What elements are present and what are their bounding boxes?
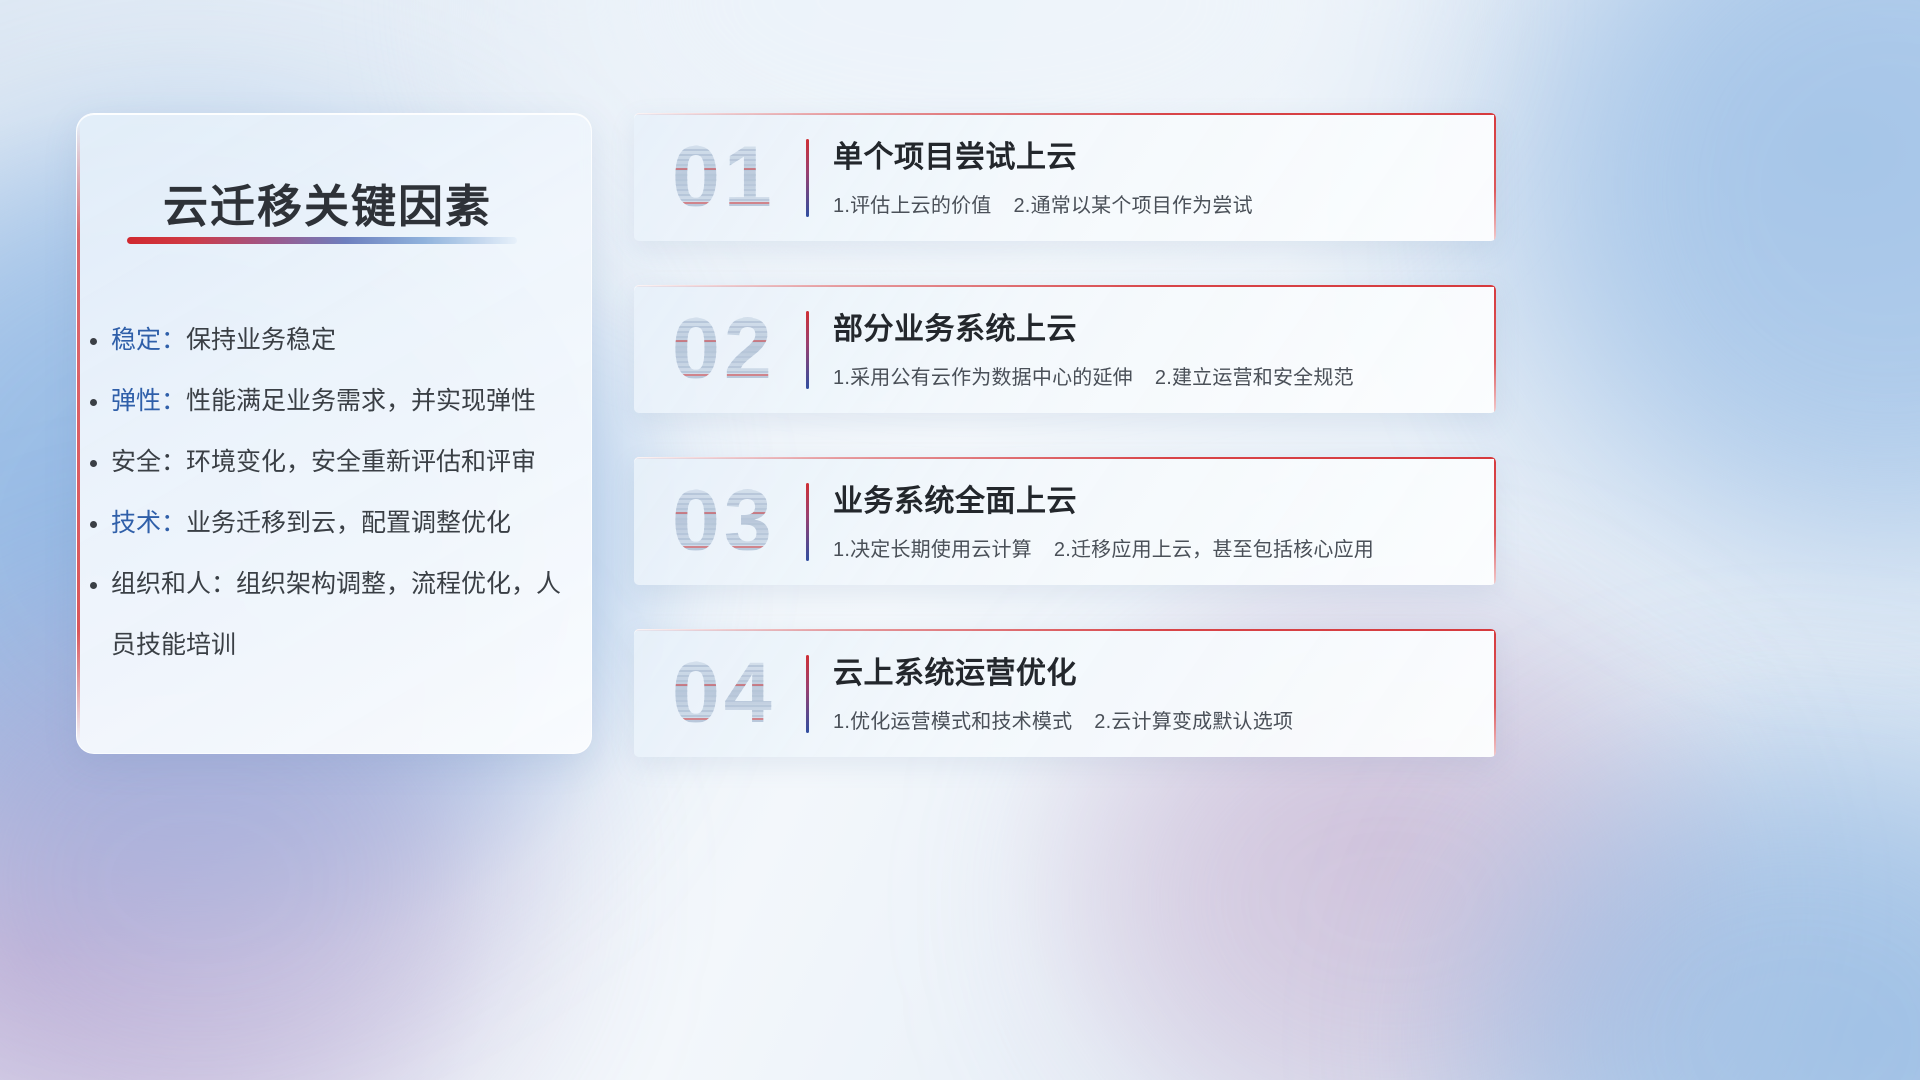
factor-label: 组织和人： xyxy=(111,570,236,598)
factor-label: 安全： xyxy=(111,448,186,476)
stage-heading: 单个项目尝试上云 xyxy=(833,137,1476,179)
stage-card[interactable]: 0101单个项目尝试上云1.评估上云的价值2.通常以某个项目作为尝试 xyxy=(634,113,1496,241)
slide-canvas: 云迁移关键因素 稳定：保持业务稳定弹性：性能满足业务需求，并实现弹性安全：环境变… xyxy=(0,0,1920,1080)
stage-point: 2.迁移应用上云，甚至包括核心应用 xyxy=(1054,539,1374,561)
stage-point: 2.云计算变成默认选项 xyxy=(1094,711,1293,733)
stage-number-accent-overlay: 01 xyxy=(672,134,776,220)
factor-label: 稳定： xyxy=(111,326,186,354)
stage-heading: 部分业务系统上云 xyxy=(833,309,1476,351)
factor-item: 技术：业务迁移到云，配置调整优化 xyxy=(111,493,573,554)
stage-points: 1.优化运营模式和技术模式2.云计算变成默认选项 xyxy=(833,705,1476,734)
stage-point: 1.评估上云的价值 xyxy=(833,195,991,217)
stage-heading: 云上系统运营优化 xyxy=(833,653,1476,695)
background-blob-lower-right xyxy=(1480,760,1920,1080)
stage-point: 1.优化运营模式和技术模式 xyxy=(833,711,1072,733)
stage-points: 1.采用公有云作为数据中心的延伸2.建立运营和安全规范 xyxy=(833,361,1476,390)
stage-card[interactable]: 0202部分业务系统上云1.采用公有云作为数据中心的延伸2.建立运营和安全规范 xyxy=(634,285,1496,413)
stage-point: 1.决定长期使用云计算 xyxy=(833,539,1032,561)
stage-card-body: 单个项目尝试上云1.评估上云的价值2.通常以某个项目作为尝试 xyxy=(833,137,1476,218)
stage-heading: 业务系统全面上云 xyxy=(833,481,1476,523)
stage-card-body: 云上系统运营优化1.优化运营模式和技术模式2.云计算变成默认选项 xyxy=(833,653,1476,734)
factor-item: 稳定：保持业务稳定 xyxy=(111,310,573,371)
factor-label: 弹性： xyxy=(111,387,186,415)
factor-value: 性能满足业务需求，并实现弹性 xyxy=(186,387,536,415)
stage-card-body: 业务系统全面上云1.决定长期使用云计算2.迁移应用上云，甚至包括核心应用 xyxy=(833,481,1476,562)
factor-item: 安全：环境变化，安全重新评估和评审 xyxy=(111,432,573,493)
page-title: 云迁移关键因素 xyxy=(163,170,492,235)
stage-point: 2.通常以某个项目作为尝试 xyxy=(1013,195,1252,217)
factor-value: 业务迁移到云，配置调整优化 xyxy=(186,509,511,537)
stage-card-body: 部分业务系统上云1.采用公有云作为数据中心的延伸2.建立运营和安全规范 xyxy=(833,309,1476,390)
stage-divider-rule xyxy=(806,311,809,389)
stage-points: 1.决定长期使用云计算2.迁移应用上云，甚至包括核心应用 xyxy=(833,533,1476,562)
stage-card[interactable]: 0303业务系统全面上云1.决定长期使用云计算2.迁移应用上云，甚至包括核心应用 xyxy=(634,457,1496,585)
background-blob-top-right xyxy=(1540,0,1920,540)
stage-number-accent-overlay: 02 xyxy=(672,306,776,392)
title-underline-rule xyxy=(127,237,517,244)
factor-list: 稳定：保持业务稳定弹性：性能满足业务需求，并实现弹性安全：环境变化，安全重新评估… xyxy=(111,310,573,676)
stage-points: 1.评估上云的价值2.通常以某个项目作为尝试 xyxy=(833,189,1476,218)
stage-divider-rule xyxy=(806,655,809,733)
key-factors-panel: 云迁移关键因素 稳定：保持业务稳定弹性：性能满足业务需求，并实现弹性安全：环境变… xyxy=(76,113,592,754)
stage-divider-rule xyxy=(806,139,809,217)
stage-number-accent-overlay: 03 xyxy=(672,478,776,564)
factor-item: 组织和人：组织架构调整，流程优化，人员技能培训 xyxy=(111,554,573,676)
stage-point: 2.建立运营和安全规范 xyxy=(1155,367,1354,389)
stage-divider-rule xyxy=(806,483,809,561)
factor-label: 技术： xyxy=(111,509,186,537)
stage-point: 1.采用公有云作为数据中心的延伸 xyxy=(833,367,1133,389)
stage-card-list: 0101单个项目尝试上云1.评估上云的价值2.通常以某个项目作为尝试0202部分… xyxy=(634,113,1496,801)
factor-value: 保持业务稳定 xyxy=(186,326,336,354)
stage-number-accent-overlay: 04 xyxy=(672,650,776,736)
factor-value: 环境变化，安全重新评估和评审 xyxy=(186,448,536,476)
stage-card[interactable]: 0404云上系统运营优化1.优化运营模式和技术模式2.云计算变成默认选项 xyxy=(634,629,1496,757)
factor-item: 弹性：性能满足业务需求，并实现弹性 xyxy=(111,371,573,432)
